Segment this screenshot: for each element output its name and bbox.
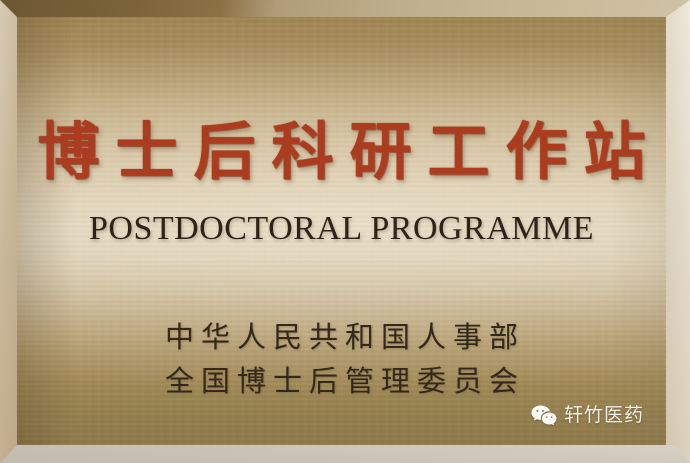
wechat-account-name: 轩竹医药 [564, 405, 644, 425]
plaque-bevel-right [666, 0, 690, 463]
plaque-photo: 博士后科研工作站 POSTDOCTORAL PROGRAMME 中华人民共和国人… [0, 0, 690, 463]
plaque-face: 博士后科研工作站 POSTDOCTORAL PROGRAMME 中华人民共和国人… [17, 17, 666, 445]
org-line-committee: 全国博士后管理委员会 [17, 359, 666, 403]
plaque-bevel-left [0, 0, 17, 463]
wechat-watermark: 轩竹医药 [531, 405, 644, 425]
plaque-bevel-top [0, 0, 690, 17]
plaque-bevel-bottom [0, 445, 690, 463]
plaque-content: 博士后科研工作站 POSTDOCTORAL PROGRAMME 中华人民共和国人… [17, 17, 666, 445]
plaque-title-english: POSTDOCTORAL PROGRAMME [17, 209, 666, 249]
issuing-organisations: 中华人民共和国人事部 全国博士后管理委员会 [17, 315, 666, 403]
wechat-icon [531, 405, 557, 425]
plaque-title-chinese: 博士后科研工作站 [17, 117, 666, 187]
org-line-ministry: 中华人民共和国人事部 [17, 315, 666, 359]
